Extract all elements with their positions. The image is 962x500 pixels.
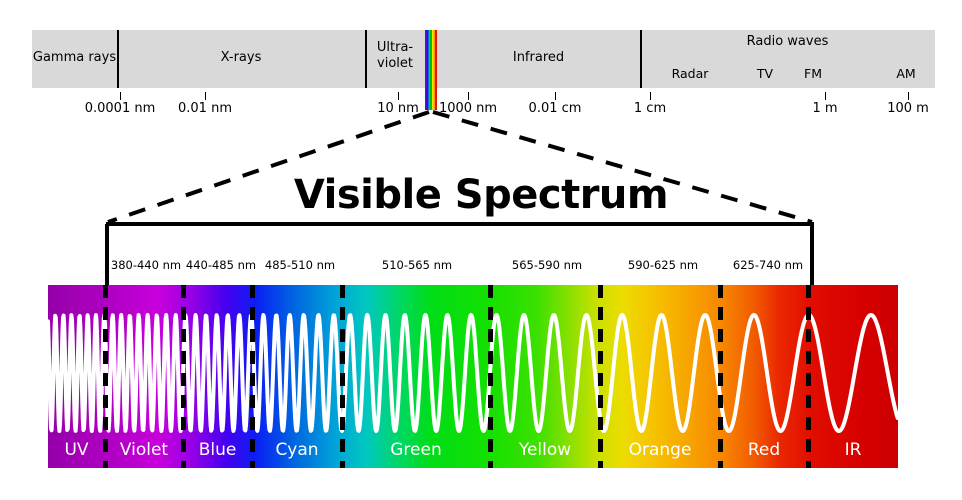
em-tick-2: [398, 92, 399, 100]
wavelength-range-6: 625-740 nm: [723, 258, 813, 272]
em-tick-1: [205, 92, 206, 100]
visible-spectrum-gradient: UVVioletBlueCyanGreenYellowOrangeRedIR: [48, 285, 898, 468]
band-label-yellow: Yellow: [485, 440, 605, 460]
wavelength-range-3: 510-565 nm: [372, 258, 462, 272]
em-tick-5: [650, 92, 651, 100]
em-region-label-ultraviolet: Ultra-violet: [365, 40, 425, 72]
em-region-label-radio-waves: Radio waves: [640, 34, 935, 49]
em-tick-label-4: 0.01 cm: [510, 101, 600, 116]
band-label-ir: IR: [793, 440, 898, 460]
em-tick-label-5: 1 cm: [605, 101, 695, 116]
em-spectrum-figure: Gamma raysX-raysUltra-violetInfraredRadi…: [0, 0, 962, 500]
wavelength-range-1: 440-485 nm: [176, 258, 266, 272]
radio-subband-fm: FM: [790, 66, 836, 81]
sine-wave-path: [48, 315, 898, 431]
wavelength-range-4: 565-590 nm: [502, 258, 592, 272]
em-tick-7: [908, 92, 909, 100]
em-region-label-gamma-rays: Gamma rays: [32, 50, 117, 65]
em-tick-4: [555, 92, 556, 100]
wavelength-range-labels: 380-440 nm440-485 nm485-510 nm510-565 nm…: [0, 258, 962, 278]
visible-light-rainbow-strip: [425, 30, 437, 110]
band-label-cyan: Cyan: [237, 440, 357, 460]
em-tick-label-7: 100 m: [863, 101, 953, 116]
em-tick-6: [825, 92, 826, 100]
em-region-label-x-rays: X-rays: [117, 50, 365, 65]
em-tick-label-0: 0.0001 nm: [75, 101, 165, 116]
radio-subband-radar: Radar: [650, 66, 730, 81]
wavelength-range-2: 485-510 nm: [255, 258, 345, 272]
em-tick-label-6: 1 m: [780, 101, 870, 116]
em-tick-0: [120, 92, 121, 100]
em-tick-3: [468, 92, 469, 100]
band-label-orange: Orange: [600, 440, 720, 460]
page-title: Visible Spectrum: [0, 172, 962, 218]
radio-subband-am: AM: [880, 66, 932, 81]
em-tick-label-1: 0.01 nm: [160, 101, 250, 116]
band-label-green: Green: [356, 440, 476, 460]
radio-subband-tv: TV: [745, 66, 785, 81]
em-region-label-infrared: Infrared: [437, 50, 640, 65]
wavelength-range-5: 590-625 nm: [618, 258, 708, 272]
em-tick-label-3: 1000 nm: [423, 101, 513, 116]
